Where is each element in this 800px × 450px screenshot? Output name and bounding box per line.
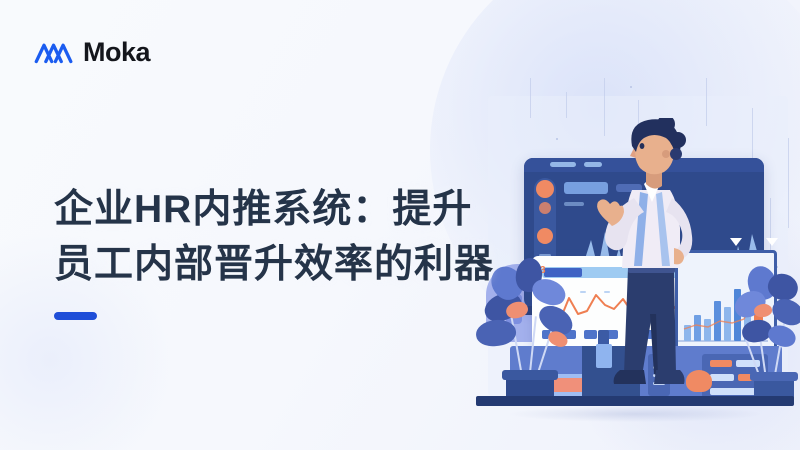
character-ear xyxy=(662,150,670,158)
plant-pot-rim xyxy=(750,372,798,381)
character-eye xyxy=(640,143,645,149)
accent-dot xyxy=(556,138,558,140)
sidebar-dot-2-icon xyxy=(539,202,551,214)
screen-titlebar-pill xyxy=(550,162,576,167)
sidebar-dot-3-icon xyxy=(537,228,553,244)
hr-analytics-dashboard-illustration: 3 xyxy=(470,78,800,450)
character-pants xyxy=(624,268,676,376)
moka-mountain-logo-icon xyxy=(34,38,74,66)
screen-label-line xyxy=(564,202,584,206)
character-hair-side xyxy=(670,132,686,148)
brand-logo[interactable]: Moka xyxy=(34,38,150,66)
accent-tick xyxy=(788,138,789,228)
brand-wordmark: Moka xyxy=(83,39,150,66)
character-shoe-right xyxy=(654,370,685,384)
floor-shadow xyxy=(510,406,760,422)
plant-pot-rim xyxy=(502,370,558,380)
plant-leaf xyxy=(475,318,517,348)
sidebar-dot-1-icon xyxy=(536,180,554,198)
headline-block: 企业HR内推系统：提升 员工内部晋升效率的利器 xyxy=(54,182,494,293)
pointer-arrow-2-icon xyxy=(766,238,778,246)
pointer-arrow-1-icon xyxy=(730,238,742,246)
headline-line-1: 企业HR内推系统：提升 xyxy=(54,182,494,237)
presenter-character xyxy=(588,118,708,404)
headline-line-2: 员工内部晋升效率的利器 xyxy=(54,237,494,292)
character-hair-side xyxy=(670,148,682,160)
banner-root: Moka 企业HR内推系统：提升 员工内部晋升效率的利器 xyxy=(0,0,800,450)
character-shoe-left xyxy=(614,370,646,384)
accent-dot xyxy=(630,86,632,88)
plant-right xyxy=(724,264,800,406)
floor-bar xyxy=(476,396,794,406)
accent-tick xyxy=(566,92,567,118)
accent-tick xyxy=(530,78,531,118)
plant-leaf-accent xyxy=(753,303,773,318)
blue-accent-bar xyxy=(54,312,97,320)
